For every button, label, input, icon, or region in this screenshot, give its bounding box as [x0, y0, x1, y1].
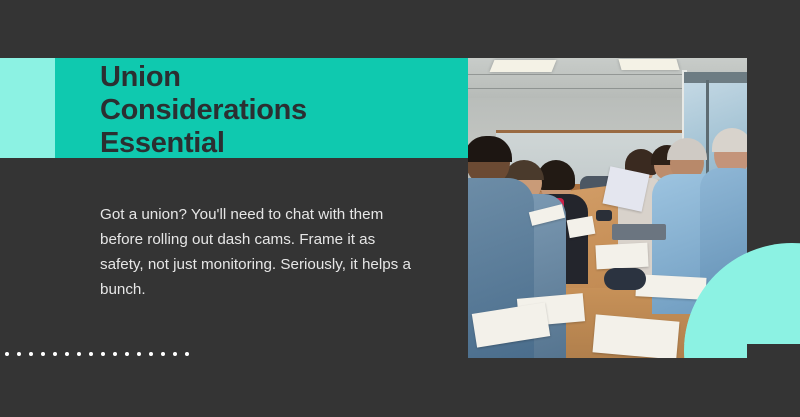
- dot-decoration: [173, 352, 177, 356]
- photo-laptop: [612, 224, 666, 240]
- photo-document: [635, 274, 706, 300]
- dot-row-decoration: [5, 352, 189, 356]
- title-band-accent-block: [0, 58, 55, 158]
- photo-held-document: [602, 166, 649, 211]
- ceiling-light-icon: [618, 59, 679, 70]
- dot-decoration: [77, 352, 81, 356]
- dot-decoration: [17, 352, 21, 356]
- dot-decoration: [53, 352, 57, 356]
- photo-document: [595, 243, 648, 270]
- photo-remote-device: [596, 210, 612, 221]
- dot-decoration: [149, 352, 153, 356]
- photo-document: [593, 314, 680, 358]
- dot-decoration: [101, 352, 105, 356]
- slide-canvas: Union Considerations Essential Got a uni…: [0, 0, 800, 417]
- dot-decoration: [89, 352, 93, 356]
- dot-decoration: [161, 352, 165, 356]
- dot-decoration: [137, 352, 141, 356]
- page-title: Union Considerations Essential: [100, 61, 460, 160]
- ceiling-light-icon: [490, 60, 557, 72]
- dot-decoration: [65, 352, 69, 356]
- dot-decoration: [185, 352, 189, 356]
- body-paragraph: Got a union? You'll need to chat with th…: [100, 202, 412, 302]
- photo-conference-phone: [604, 268, 646, 290]
- dot-decoration: [113, 352, 117, 356]
- dot-decoration: [5, 352, 9, 356]
- dot-decoration: [41, 352, 45, 356]
- title-band: Union Considerations Essential: [0, 58, 467, 158]
- dot-decoration: [125, 352, 129, 356]
- dot-decoration: [29, 352, 33, 356]
- photo-window-blind: [684, 72, 747, 83]
